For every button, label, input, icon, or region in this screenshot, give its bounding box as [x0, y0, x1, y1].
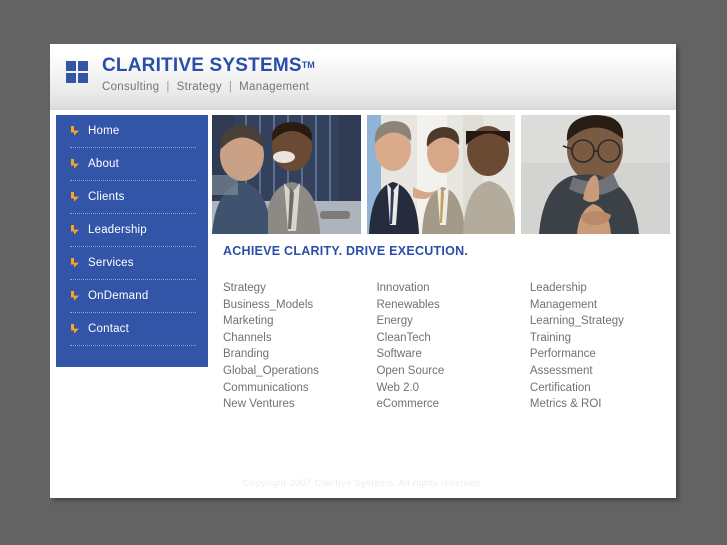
sidebar-item-ondemand[interactable]: OnDemand [56, 280, 208, 312]
sidebar-item-leadership[interactable]: Leadership [56, 214, 208, 246]
list-item[interactable]: CleanTech [376, 330, 529, 347]
arrow-down-right-icon [70, 324, 80, 334]
column-leadership: Leadership Management Learning_Strategy … [530, 280, 672, 413]
sidebar-item-label: OnDemand [88, 290, 148, 302]
sidebar-item-label: Home [88, 125, 119, 137]
main-headline: ACHIEVE CLARITY. DRIVE EXECUTION. [223, 244, 672, 258]
list-item[interactable]: Business_Models [223, 297, 376, 314]
list-item[interactable]: Strategy [223, 280, 376, 297]
photo-strip [212, 115, 670, 234]
tagline-item-strategy: Strategy [177, 81, 222, 93]
list-item[interactable]: Channels [223, 330, 376, 347]
copyright-text: Copyright 2007 Claritive Systems. All ri… [243, 478, 483, 489]
trademark-mark: TM [302, 60, 315, 70]
list-item[interactable]: Learning_Strategy [530, 313, 672, 330]
page-title: CLARITIVE SYSTEMS [102, 56, 302, 76]
arrow-down-right-icon [70, 126, 80, 136]
arrow-down-right-icon [70, 258, 80, 268]
arrow-down-right-icon [70, 192, 80, 202]
list-item[interactable]: Global_Operations [223, 363, 376, 380]
list-item[interactable]: Communications [223, 380, 376, 397]
photo-executive-thinking [521, 115, 670, 234]
sidebar-item-contact[interactable]: Contact [56, 313, 208, 345]
list-item[interactable]: Software [376, 346, 529, 363]
four-square-grid-icon [66, 61, 88, 83]
list-item[interactable]: Open Source [376, 363, 529, 380]
sidebar-divider [70, 345, 196, 346]
sidebar-item-home[interactable]: Home [56, 115, 208, 147]
list-item[interactable]: Energy [376, 313, 529, 330]
tagline-separator: | [222, 81, 239, 93]
list-item[interactable]: New Ventures [223, 396, 376, 413]
list-item[interactable]: Certification [530, 380, 672, 397]
sidebar-item-label: Leadership [88, 224, 147, 236]
site-header: CLARITIVE SYSTEMSTM Consulting|Strategy|… [50, 44, 676, 111]
list-item[interactable]: Performance [530, 346, 672, 363]
sidebar-item-label: Clients [88, 191, 125, 203]
arrow-down-right-icon [70, 159, 80, 169]
sidebar-item-clients[interactable]: Clients [56, 181, 208, 213]
column-strategy: Strategy Business_Models Marketing Chann… [223, 280, 376, 413]
brand[interactable]: CLARITIVE SYSTEMSTM Consulting|Strategy|… [66, 56, 315, 93]
list-item[interactable]: Metrics & ROI [530, 396, 672, 413]
list-item[interactable]: eCommerce [376, 396, 529, 413]
list-item[interactable]: Innovation [376, 280, 529, 297]
tagline-separator: | [159, 81, 176, 93]
list-item[interactable]: Leadership [530, 280, 672, 297]
page-shell: CLARITIVE SYSTEMSTM Consulting|Strategy|… [50, 44, 676, 498]
site-footer: Copyright 2007 Claritive Systems. All ri… [50, 473, 676, 491]
photo-businessmen-meeting [212, 115, 361, 234]
sidebar-item-services[interactable]: Services [56, 247, 208, 279]
column-innovation: Innovation Renewables Energy CleanTech S… [376, 280, 529, 413]
page-body: Home About Clients Leadership Services [50, 111, 676, 499]
sidebar-item-label: Contact [88, 323, 129, 335]
photo-business-group-handshake [367, 115, 516, 234]
list-item[interactable]: Branding [223, 346, 376, 363]
tagline-item-management: Management [239, 81, 309, 93]
list-item[interactable]: Assessment [530, 363, 672, 380]
sidebar-item-label: Services [88, 257, 134, 269]
sidebar-nav: Home About Clients Leadership Services [56, 115, 208, 367]
arrow-down-right-icon [70, 225, 80, 235]
list-item[interactable]: Marketing [223, 313, 376, 330]
brand-tagline: Consulting|Strategy|Management [102, 81, 315, 93]
service-columns: Strategy Business_Models Marketing Chann… [223, 280, 672, 413]
brand-title-line: CLARITIVE SYSTEMSTM [102, 56, 315, 76]
brand-text: CLARITIVE SYSTEMSTM Consulting|Strategy|… [102, 56, 315, 93]
list-item[interactable]: Renewables [376, 297, 529, 314]
sidebar-item-about[interactable]: About [56, 148, 208, 180]
sidebar-item-label: About [88, 158, 119, 170]
arrow-down-right-icon [70, 291, 80, 301]
tagline-item-consulting: Consulting [102, 81, 159, 93]
list-item[interactable]: Web 2.0 [376, 380, 529, 397]
list-item[interactable]: Training [530, 330, 672, 347]
list-item[interactable]: Management [530, 297, 672, 314]
main-content: ACHIEVE CLARITY. DRIVE EXECUTION. Strate… [212, 244, 672, 413]
